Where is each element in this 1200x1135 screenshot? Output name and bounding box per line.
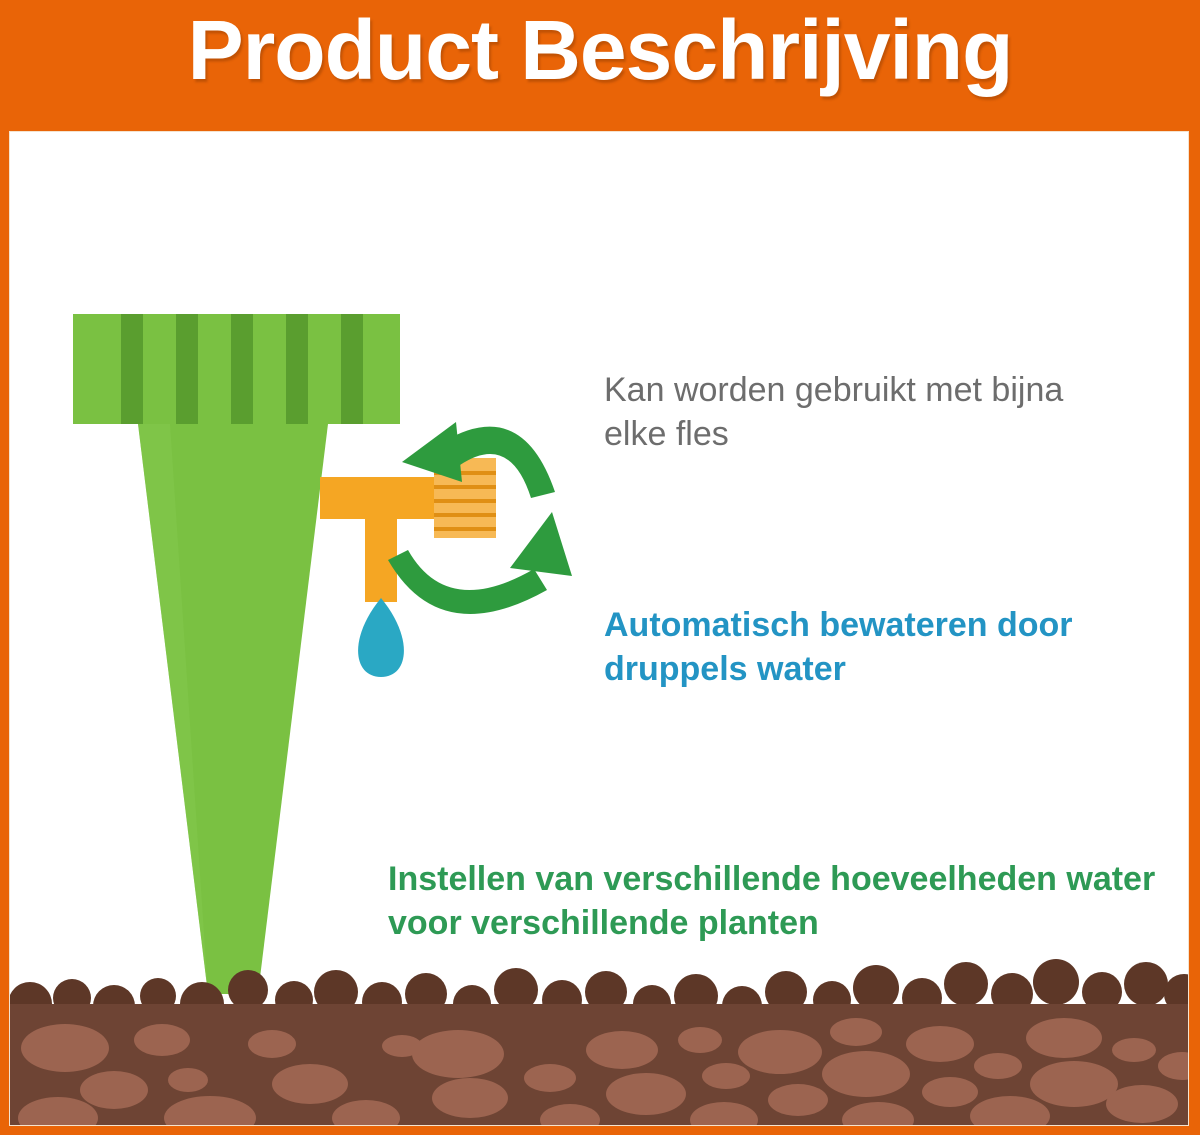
header-banner: Product Beschrijving: [0, 0, 1200, 124]
content-panel: Kan worden gebruikt met bijna elke fles …: [9, 131, 1189, 1126]
product-description-infographic: Product Beschrijving: [0, 0, 1200, 1135]
page-title: Product Beschrijving: [0, 2, 1200, 98]
callout-drip-watering: Automatisch bewateren door druppels wate…: [604, 604, 1164, 691]
green-threaded-cap: [73, 314, 400, 424]
callout-adjustable-flow: Instellen van verschillende hoeveelheden…: [388, 858, 1178, 945]
callout-bottle-compatibility: Kan worden gebruikt met bijna elke fles: [604, 369, 1124, 456]
soil-bed: [10, 959, 1189, 1126]
green-watering-spike: [138, 424, 328, 994]
water-droplet: [358, 598, 404, 677]
